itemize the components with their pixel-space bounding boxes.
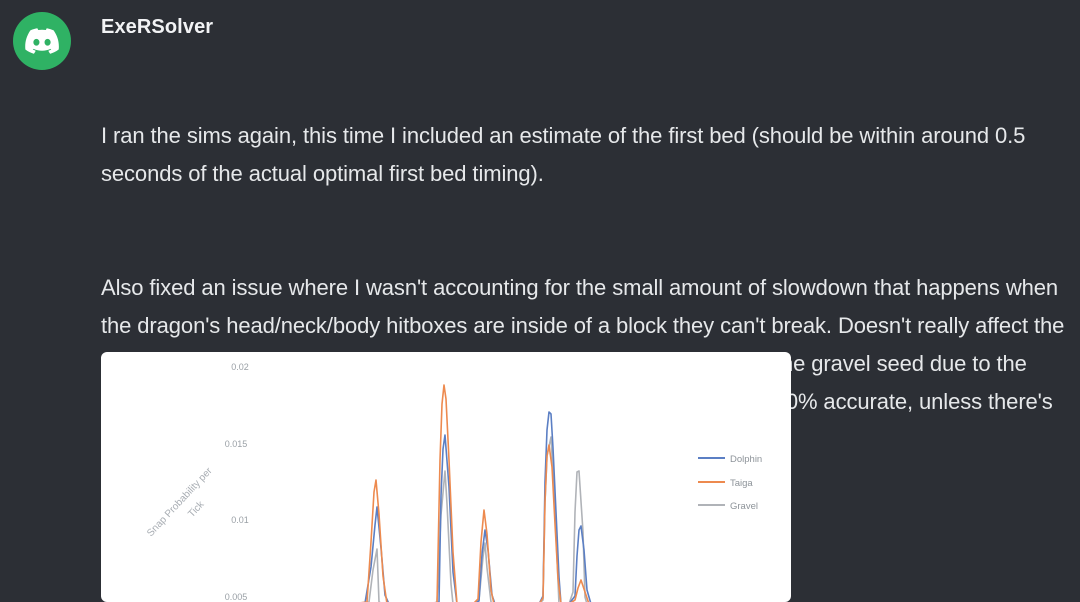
series-line-gravel (351, 437, 791, 602)
ytick-label-3: 0.005 (225, 592, 248, 602)
snap-probability-chart: 0.02 0.015 0.01 0.005 Snap Probability p… (101, 352, 791, 602)
chart-plot-area (351, 385, 791, 602)
ytick-label-0: 0.02 (231, 362, 249, 372)
ytick-label-1: 0.015 (225, 439, 248, 449)
avatar[interactable] (13, 12, 71, 70)
chart-legend: Dolphin Taiga Gravel (698, 454, 762, 512)
y-axis-title: Snap Probability per Tick (145, 465, 227, 550)
chart-attachment[interactable]: 0.02 0.015 0.01 0.005 Snap Probability p… (101, 352, 791, 602)
legend-label-taiga: Taiga (730, 478, 753, 489)
series-line-taiga (351, 385, 791, 602)
legend-entry-gravel: Gravel (698, 501, 758, 512)
y-axis-title-line2: Tick (186, 499, 207, 520)
legend-entry-taiga: Taiga (698, 478, 753, 489)
legend-label-dolphin: Dolphin (730, 454, 762, 465)
legend-label-gravel: Gravel (730, 501, 758, 512)
discord-message-view: ExeRSolver I ran the sims again, this ti… (0, 0, 1080, 602)
message-author-name[interactable]: ExeRSolver (101, 14, 1068, 40)
discord-logo-icon (25, 28, 59, 54)
y-axis-title-line1: Snap Probability per (145, 465, 215, 539)
message-paragraph-1: I ran the sims again, this time I includ… (101, 117, 1068, 193)
series-line-dolphin (351, 412, 791, 602)
legend-entry-dolphin: Dolphin (698, 454, 762, 465)
ytick-label-2: 0.01 (231, 515, 249, 525)
